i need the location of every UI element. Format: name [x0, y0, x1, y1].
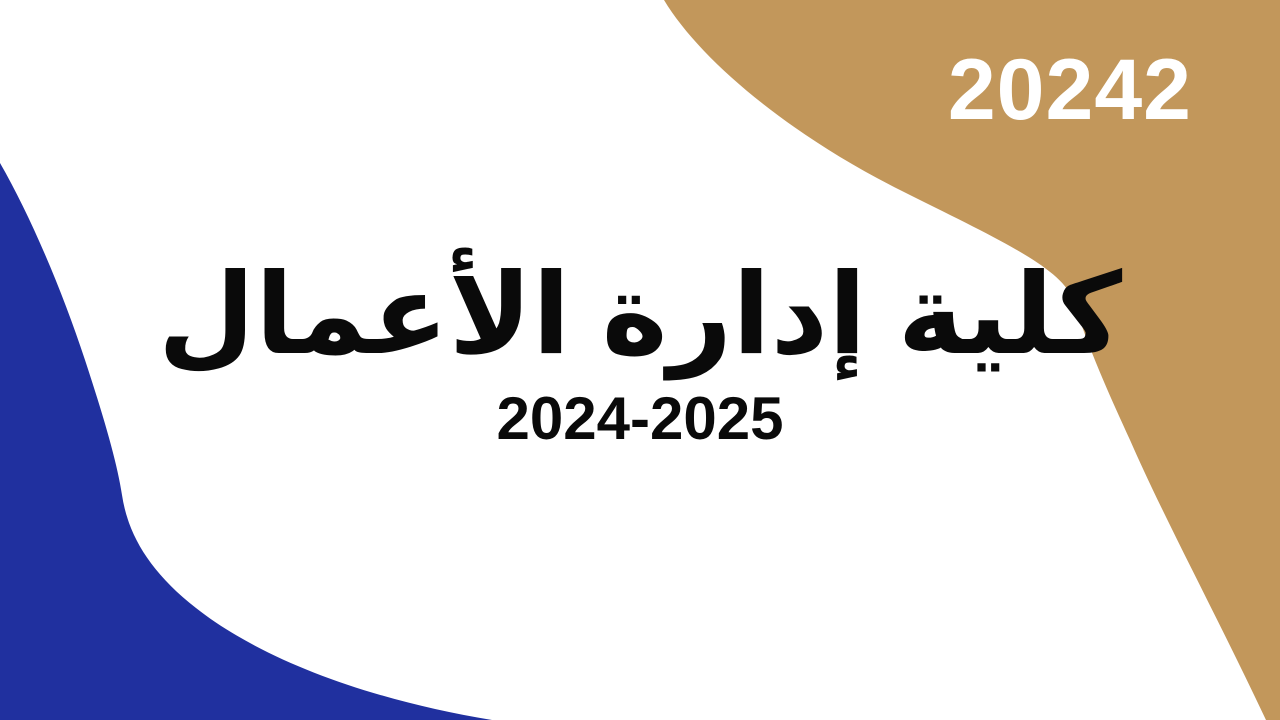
page-title: كلية إدارة الأعمال — [0, 252, 1280, 377]
title-block: كلية إدارة الأعمال 2024-2025 — [0, 252, 1280, 449]
corner-year-badge: 20242 — [948, 47, 1192, 133]
title-slide: 20242 كلية إدارة الأعمال 2024-2025 — [0, 0, 1280, 720]
slide-content-layer: 20242 كلية إدارة الأعمال 2024-2025 — [0, 0, 1280, 720]
academic-year-subtitle: 2024-2025 — [0, 389, 1280, 449]
